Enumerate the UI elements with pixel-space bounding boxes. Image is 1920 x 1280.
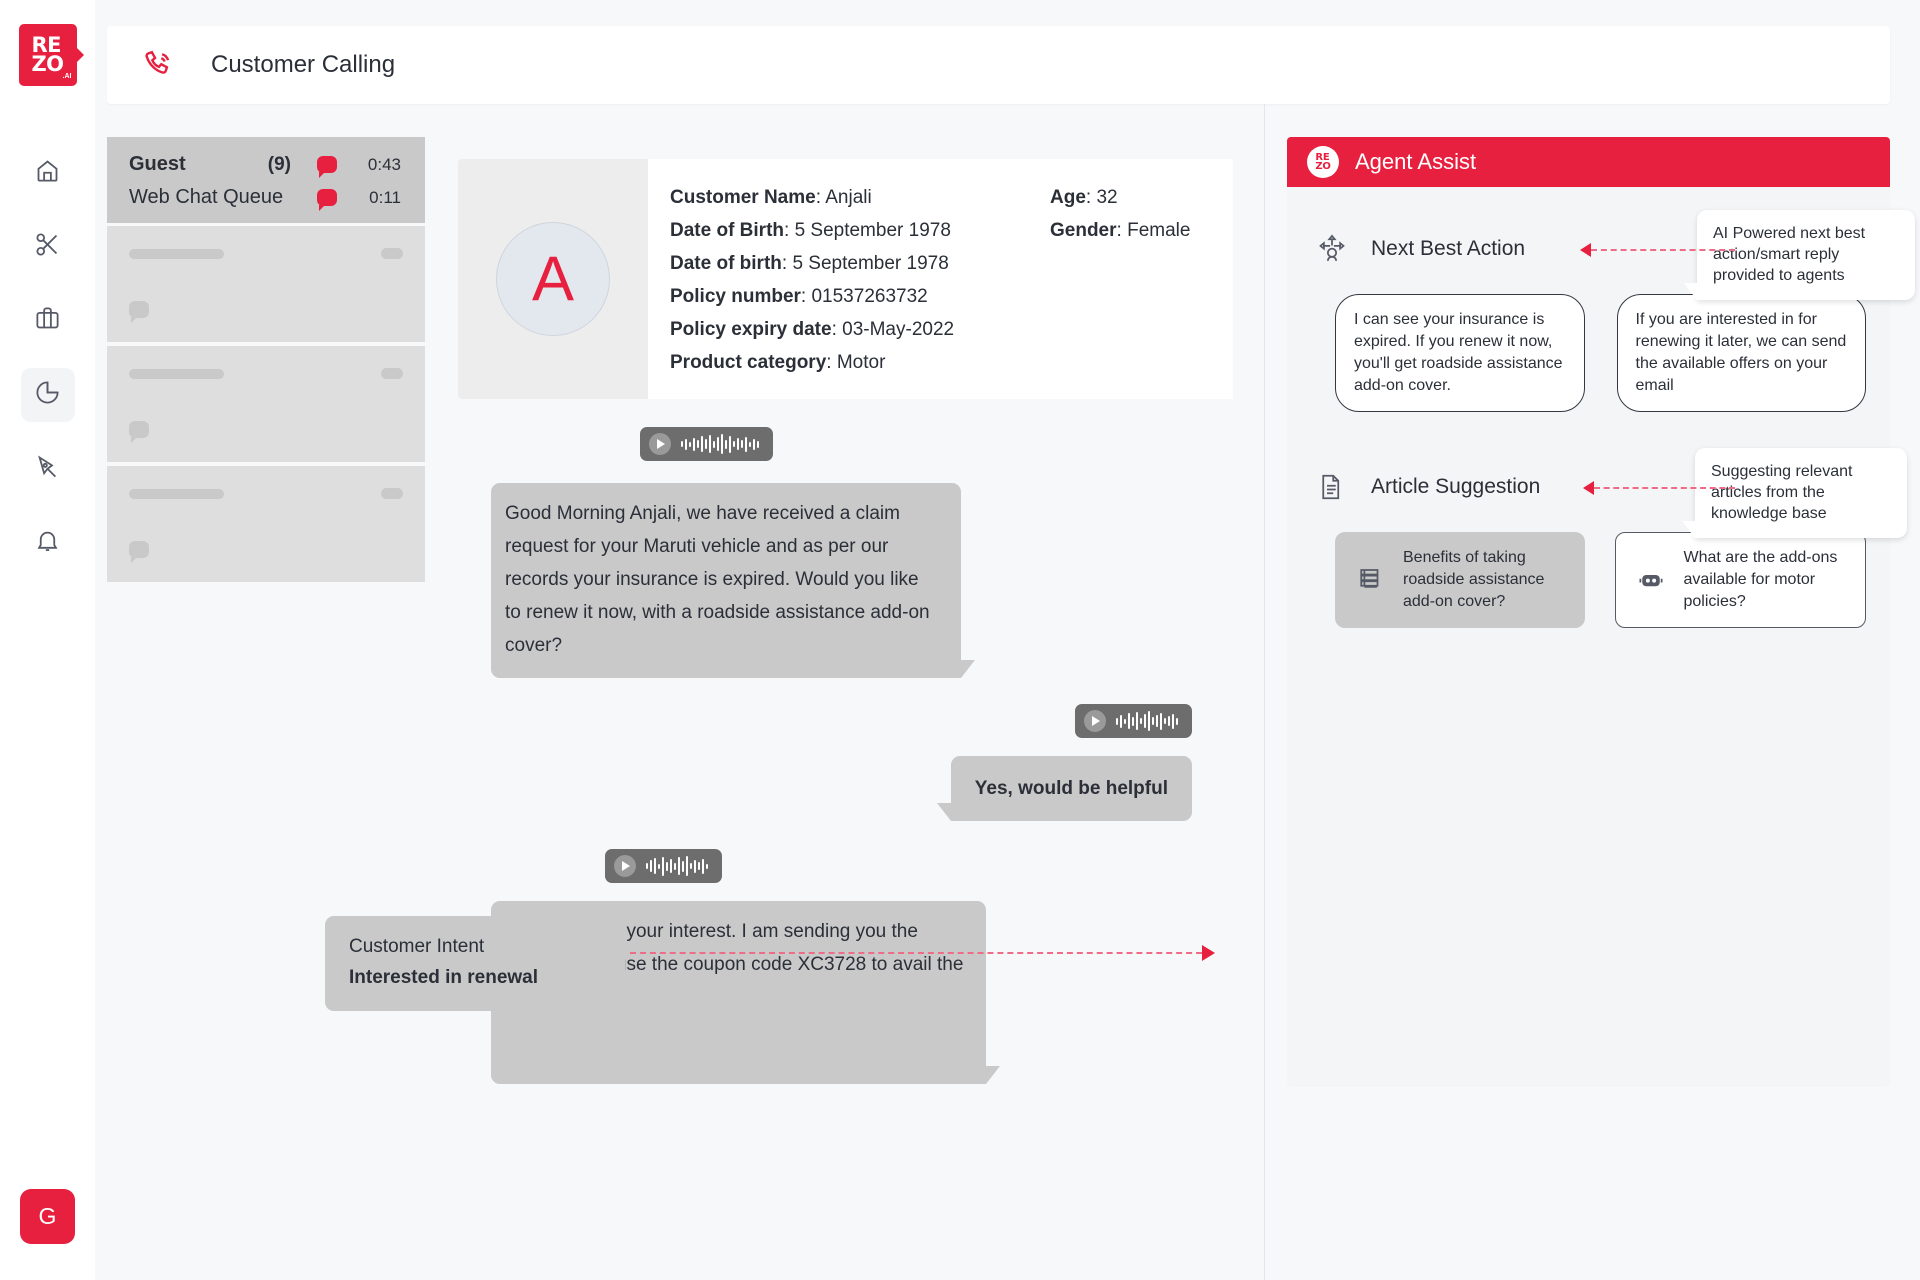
agent-assist-header: REZO Agent Assist (1287, 137, 1890, 187)
phone-call-icon (137, 43, 181, 87)
customer-field: Policy expiry date: 03-May-2022 (670, 313, 1050, 346)
field-label: Policy expiry date (670, 319, 832, 340)
user-avatar[interactable]: G (20, 1189, 75, 1244)
arrow-dash (1594, 487, 1735, 489)
customer-fields-left: Customer Name: Anjali Date of Birth: 5 S… (670, 181, 1050, 379)
placeholder-line (129, 369, 224, 379)
sidebar-item-campaigns[interactable] (21, 220, 75, 274)
waveform (1116, 710, 1178, 732)
queue-item-placeholder[interactable] (107, 226, 425, 342)
queue-item-subtitle: Web Chat Queue (129, 186, 317, 209)
field-value: 01537263732 (811, 286, 927, 307)
section-label: Article Suggestion (1371, 475, 1540, 499)
chat-bubble-icon (317, 189, 337, 206)
conversation-pane: A Customer Name: Anjali Date of Birth: 5… (425, 104, 1265, 1280)
article-suggestion-icon (1315, 470, 1349, 504)
field-value: 5 September 1978 (795, 220, 951, 241)
sidebar-item-analytics[interactable] (21, 368, 75, 422)
placeholder-pill (381, 488, 403, 499)
queue-item-row-top: Guest (9) 0:43 (129, 153, 401, 176)
page-title: Customer Calling (211, 51, 395, 79)
message-bubble-agent: Good Morning Anjali, we have received a … (491, 483, 961, 678)
sidebar-item-workspace[interactable] (21, 294, 75, 348)
intent-label: Customer Intent (349, 936, 601, 958)
tooltip-article-suggestion: Suggesting relevant articles from the kn… (1695, 448, 1907, 538)
customer-field: Product category: Motor (670, 346, 1050, 379)
rezo-badge-icon: REZO (1307, 146, 1339, 178)
placeholder-bubble-icon (129, 421, 149, 438)
field-label: Policy number (670, 286, 801, 307)
chat-bubble-icon (317, 156, 337, 173)
intent-arrow (630, 952, 1215, 954)
logo-suffix: .AI (63, 73, 72, 80)
field-label: Date of Birth (670, 220, 784, 241)
page-header: Customer Calling (107, 26, 1890, 104)
section-label: Next Best Action (1371, 237, 1525, 261)
content-body: Guest (9) 0:43 Web Chat Queue 0:11 (107, 104, 1920, 1280)
queue-item-placeholder[interactable] (107, 466, 425, 582)
article-card[interactable]: What are the add-ons available for motor… (1615, 532, 1867, 628)
pen-tool-icon (34, 453, 61, 485)
play-icon[interactable] (614, 855, 636, 877)
chat-queue-list: Guest (9) 0:43 Web Chat Queue 0:11 (107, 104, 425, 1280)
home-icon (34, 157, 61, 189)
queue-item-time-bottom: 0:11 (359, 188, 401, 208)
sidebar-item-notifications[interactable] (21, 516, 75, 570)
left-nav-rail: RE ZO .AI (0, 0, 95, 1280)
tooltip-next-best-action: AI Powered next best action/smart reply … (1697, 210, 1915, 300)
field-label: Age (1050, 187, 1086, 208)
queue-item-row-bottom: Web Chat Queue 0:11 (129, 186, 401, 209)
pie-chart-icon (34, 379, 61, 411)
placeholder-bubble-icon (129, 541, 149, 558)
customer-field: Date of Birth: 5 September 1978 (670, 214, 1050, 247)
agent-assist-title: Agent Assist (1355, 149, 1476, 175)
customer-intent-callout: Customer Intent Interested in renewal (325, 916, 625, 1011)
play-icon[interactable] (1084, 710, 1106, 732)
article-card-text: What are the add-ons available for motor… (1684, 547, 1848, 613)
customer-field: Age: 32 (1050, 181, 1233, 214)
field-value: 32 (1096, 187, 1117, 208)
field-value: Motor (837, 352, 886, 373)
placeholder-line (129, 249, 224, 259)
smart-reply-card[interactable]: If you are interested in for renewing it… (1617, 294, 1867, 412)
message-row: Good Morning Anjali, we have received a … (458, 483, 1264, 678)
customer-field: Gender: Female (1050, 214, 1233, 247)
badge-text: REZO (1315, 153, 1330, 171)
main-column: Customer Calling Guest (9) 0:43 Web Chat… (95, 0, 1920, 1280)
customer-field: Customer Name: Anjali (670, 181, 1050, 214)
logo-text: RE ZO (31, 36, 63, 74)
field-label: Date of birth (670, 253, 782, 274)
field-label: Product category (670, 352, 826, 373)
tooltip-arrow (1583, 487, 1735, 489)
waveform (681, 433, 759, 455)
field-value: Female (1127, 220, 1190, 241)
audio-player[interactable] (640, 427, 773, 461)
section-article-suggestion: Article Suggestion Suggesting relevant a… (1287, 412, 1890, 628)
briefcase-icon (34, 305, 61, 337)
arrow-dash (630, 952, 1202, 954)
rail-items (21, 146, 75, 570)
article-card[interactable]: Benefits of taking roadside assistance a… (1335, 532, 1585, 628)
arrow-head-right-icon (1202, 945, 1215, 961)
intent-value: Interested in renewal (349, 967, 601, 989)
audio-player-row (425, 849, 1264, 883)
field-value: 03-May-2022 (842, 319, 954, 340)
article-card-text: Benefits of taking roadside assistance a… (1403, 547, 1567, 613)
sidebar-item-home[interactable] (21, 146, 75, 200)
queue-item-time-top: 0:43 (359, 155, 401, 175)
customer-field: Policy number: 01537263732 (670, 280, 1050, 313)
audio-player-row (425, 704, 1264, 738)
logo-line-2: ZO (31, 52, 63, 76)
queue-item-name: Guest (129, 153, 268, 176)
customer-field: Date of birth: 5 September 1978 (670, 247, 1050, 280)
field-label: Customer Name (670, 187, 816, 208)
customer-avatar-wrap: A (458, 159, 648, 399)
arrow-head-left-icon (1583, 481, 1594, 495)
audio-player[interactable] (605, 849, 722, 883)
smart-reply-card[interactable]: I can see your insurance is expired. If … (1335, 294, 1585, 412)
user-avatar-initial: G (39, 1203, 57, 1230)
audio-player[interactable] (1075, 704, 1192, 738)
books-icon (1353, 563, 1387, 597)
next-best-action-icon (1315, 232, 1349, 266)
placeholder-line (129, 489, 224, 499)
play-icon[interactable] (649, 433, 671, 455)
message-bubble-customer: Yes, would be helpful (951, 756, 1192, 821)
bell-icon (34, 527, 61, 559)
queue-item-count: (9) (268, 154, 291, 176)
field-value: 5 September 1978 (792, 253, 948, 274)
sidebar-item-design[interactable] (21, 442, 75, 496)
placeholder-pill (381, 248, 403, 259)
customer-fields-right: Age: 32 Gender: Female (1050, 181, 1233, 379)
waveform (646, 855, 708, 877)
audio-player-row (425, 427, 1264, 461)
placeholder-bubble-icon (129, 301, 149, 318)
arrow-head-left-icon (1580, 243, 1591, 257)
arrow-dash (1591, 249, 1735, 251)
tooltip-arrow (1580, 249, 1735, 251)
placeholder-pill (381, 368, 403, 379)
customer-avatar: A (496, 222, 610, 336)
section-header: Article Suggestion Suggesting relevant a… (1315, 470, 1890, 504)
section-next-best-action: Next Best Action AI Powered next best ac… (1287, 187, 1890, 412)
queue-item-active[interactable]: Guest (9) 0:43 Web Chat Queue 0:11 (107, 137, 425, 223)
queue-item-placeholder[interactable] (107, 346, 425, 462)
customer-fields: Customer Name: Anjali Date of Birth: 5 S… (648, 159, 1233, 399)
section-header: Next Best Action AI Powered next best ac… (1315, 232, 1890, 266)
scissors-icon (34, 231, 61, 263)
field-label: Gender (1050, 220, 1117, 241)
app-root: RE ZO .AI (0, 0, 1920, 1280)
field-value: Anjali (825, 187, 871, 208)
rezo-logo: RE ZO .AI (19, 24, 77, 86)
agent-assist-wrap: REZO Agent Assist (1265, 104, 1920, 1280)
message-row: Yes, would be helpful (425, 756, 1264, 821)
robot-icon (1634, 563, 1668, 597)
customer-avatar-initial: A (532, 243, 574, 315)
customer-info-card: A Customer Name: Anjali Date of Birth: 5… (458, 159, 1233, 399)
agent-assist-panel: REZO Agent Assist (1287, 137, 1890, 1087)
